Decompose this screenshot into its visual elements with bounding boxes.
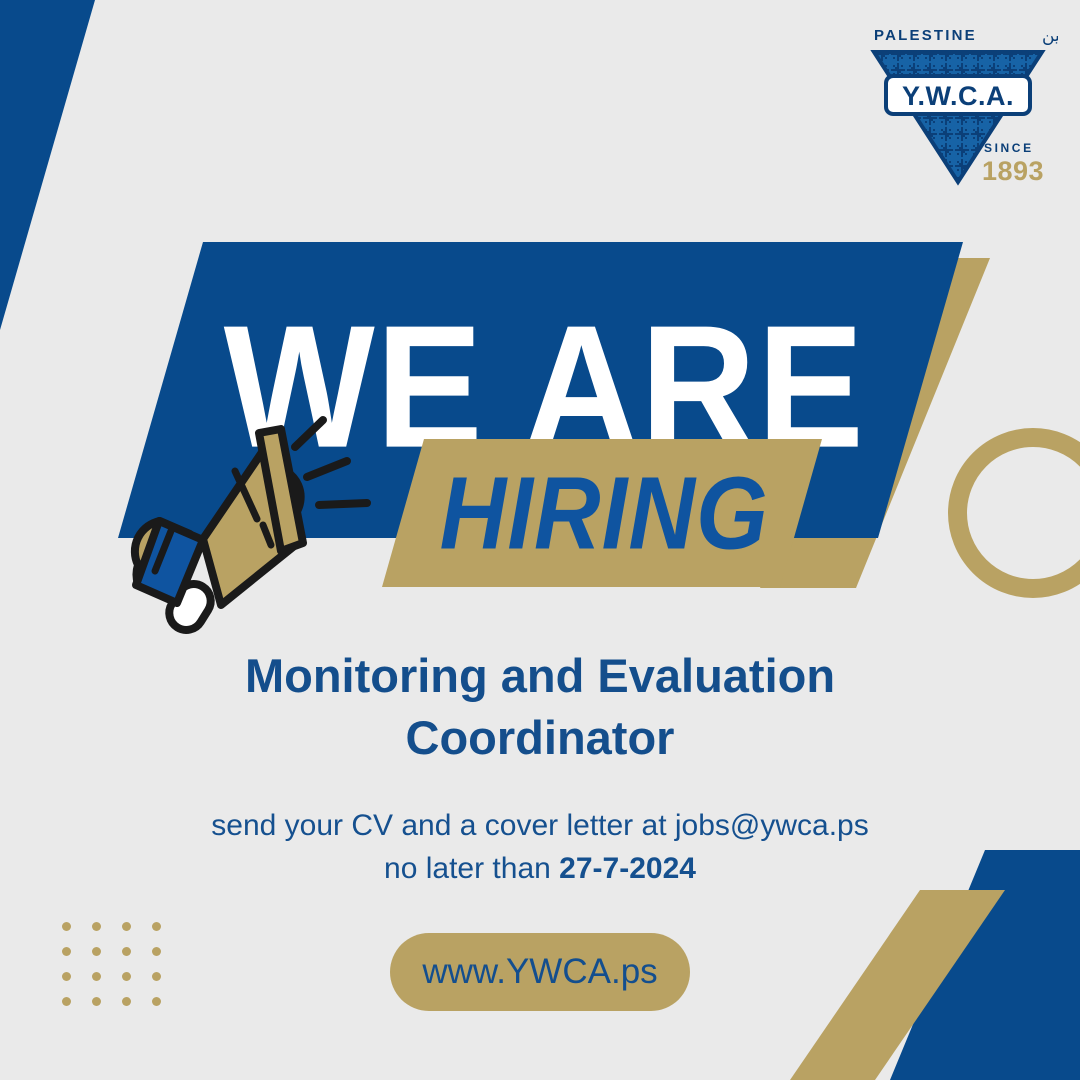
logo-top-text-en: PALESTINE [874, 27, 977, 44]
dot [92, 997, 101, 1006]
dot [152, 947, 161, 956]
dot [92, 947, 101, 956]
decorative-ring [948, 428, 1080, 598]
website-button-label: www.YWCA.ps [422, 952, 657, 992]
dot [62, 947, 71, 956]
dot [122, 922, 131, 931]
headline-hiring: HIRING [439, 462, 768, 565]
dot [92, 972, 101, 981]
application-instructions: send your CV and a cover letter at jobs@… [0, 805, 1080, 890]
job-title: Monitoring and Evaluation Coordinator [0, 645, 1080, 769]
apply-instruction-line: send your CV and a cover letter at jobs@… [0, 805, 1080, 848]
apply-deadline-date: 27-7-2024 [559, 852, 696, 885]
logo-top-text-ar: فلسطين [1042, 26, 1058, 46]
dot [122, 947, 131, 956]
dot [122, 997, 131, 1006]
hiring-poster: WE ARE HIRING Monito [0, 0, 1080, 1080]
dot [92, 922, 101, 931]
dot [62, 922, 71, 931]
logo-since-label: SINCE [984, 141, 1034, 155]
dot [62, 997, 71, 1006]
dot [152, 922, 161, 931]
decorative-dot-grid [62, 922, 182, 1022]
website-button[interactable]: www.YWCA.ps [390, 933, 690, 1011]
dot [62, 972, 71, 981]
headline-banner-secondary: HIRING [382, 439, 822, 587]
ywca-palestine-logo: PALESTINE فلسطين Y.W.C.A. SINCE 1893 [858, 14, 1058, 186]
apply-deadline-line: no later than 27-7-2024 [0, 848, 1080, 891]
dot [122, 972, 131, 981]
dot [152, 997, 161, 1006]
dot [152, 972, 161, 981]
megaphone-icon [95, 415, 395, 645]
logo-acronym: Y.W.C.A. [902, 81, 1014, 111]
logo-since-year: 1893 [982, 156, 1044, 186]
apply-deadline-prefix: no later than [384, 852, 551, 885]
